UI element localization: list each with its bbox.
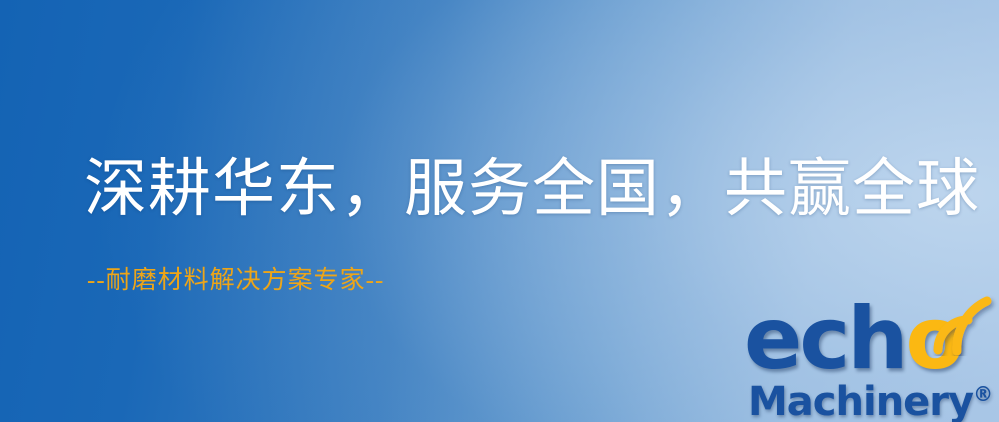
logo-tagline: Machinery® <box>748 374 993 422</box>
logo-tagline-text: Machinery <box>748 379 973 422</box>
registered-trademark-icon: ® <box>973 382 993 406</box>
company-logo[interactable]: echo Machinery® <box>744 296 999 422</box>
banner-headline: 深耕华东，服务全国，共赢全球 <box>84 156 980 222</box>
banner-subtitle: --耐磨材料解决方案专家-- <box>87 266 384 296</box>
promo-banner: 深耕华东，服务全国，共赢全球 --耐磨材料解决方案专家-- echo Machi… <box>0 0 999 422</box>
wifi-signal-icon <box>930 294 999 356</box>
logo-wordmark: echo <box>744 296 962 382</box>
